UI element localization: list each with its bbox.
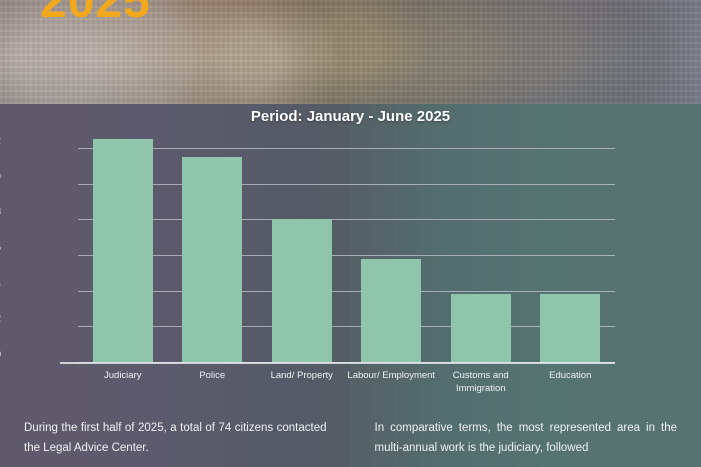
- x-axis-line: [60, 362, 615, 364]
- right-paragraph: In comparative terms, the most represent…: [375, 418, 678, 458]
- y-axis-tick-label: 8: [0, 207, 1, 218]
- x-axis-tick-label: Customs and Immigration: [436, 369, 526, 395]
- y-axis-tick-label: 0: [0, 350, 1, 361]
- bar: [182, 157, 242, 362]
- text-columns: During the first half of 2025, a total o…: [0, 418, 701, 467]
- y-axis-tick-label: 2: [0, 314, 1, 325]
- chart-title: Period: January - June 2025: [0, 108, 701, 125]
- right-column: In comparative terms, the most represent…: [351, 418, 701, 467]
- bar: [540, 294, 600, 362]
- y-axis-tick-label: 12: [0, 135, 1, 146]
- bar: [451, 294, 511, 362]
- left-paragraph: During the first half of 2025, a total o…: [24, 418, 327, 458]
- bar: [93, 139, 153, 362]
- y-axis-tick-label: 4: [0, 278, 1, 289]
- y-axis-tick-label: 6: [0, 242, 1, 253]
- x-axis-tick-label: Labour/ Employment: [347, 369, 437, 382]
- hero-banner: 2025: [0, 0, 701, 104]
- chart-bars: [78, 130, 615, 362]
- x-axis-tick-label: Education: [526, 369, 616, 382]
- bar: [361, 259, 421, 363]
- page-root: 2025 Period: January - June 2025 0246810…: [0, 0, 701, 467]
- hero-title-clipped: 2025: [40, 0, 151, 29]
- x-axis-tick-label: Land/ Property: [257, 369, 347, 382]
- bar-chart: 024681012: [78, 130, 615, 362]
- x-axis-tick-label: Judiciary: [78, 369, 168, 382]
- bar: [272, 219, 332, 362]
- x-axis-labels: JudiciaryPoliceLand/ PropertyLabour/ Emp…: [60, 369, 620, 401]
- y-axis-tick-label: 10: [0, 171, 1, 182]
- x-axis-tick-label: Police: [168, 369, 258, 382]
- left-column: During the first half of 2025, a total o…: [0, 418, 351, 467]
